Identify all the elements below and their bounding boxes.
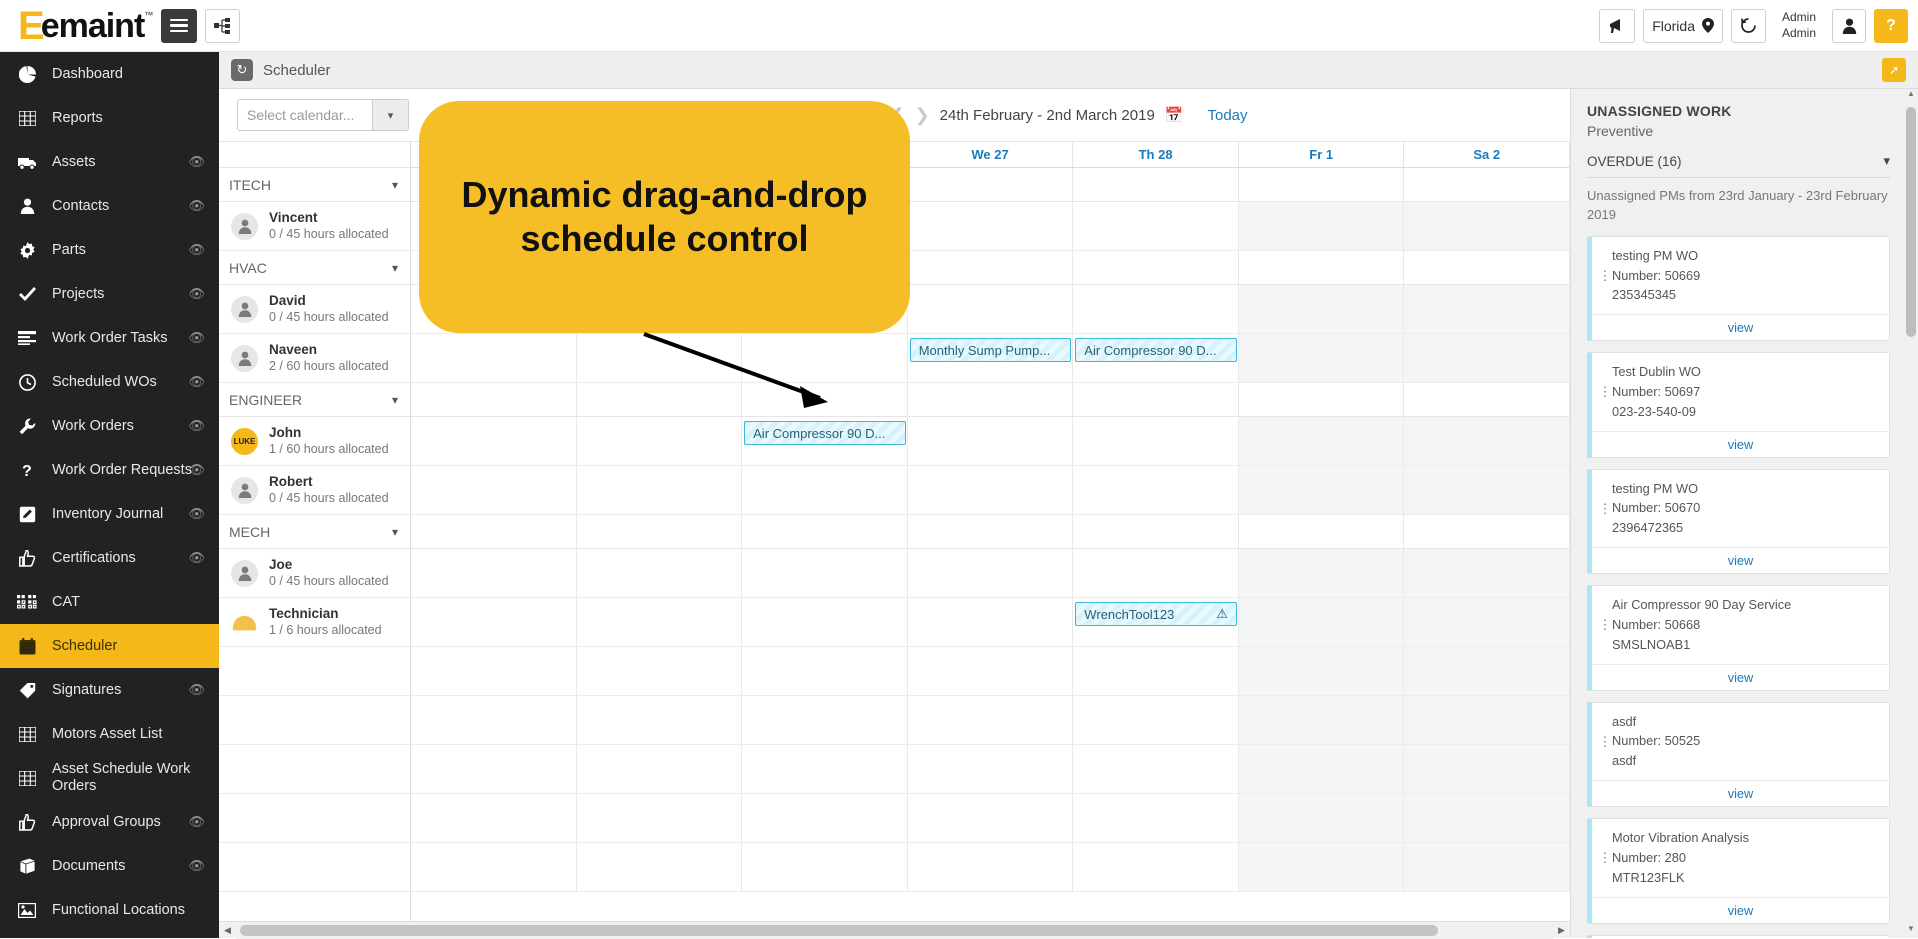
card-lines: Air Compressor 90 Day ServiceNumber: 506… [1612, 595, 1879, 654]
calendar-cell[interactable] [1404, 647, 1570, 695]
group-spacer-cell [908, 515, 1074, 548]
calendar-cell[interactable] [908, 843, 1074, 891]
unassigned-work-card[interactable]: ⋮asdfNumber: 50525asdfview [1587, 702, 1890, 807]
luke-logo-avatar: LUKE [231, 428, 258, 455]
group-spacer-cell [577, 515, 743, 548]
card-body: ⋮Motor Vibration AnalysisNumber: 280MTR1… [1592, 819, 1889, 896]
eye-icon[interactable]: 👁 [188, 682, 205, 698]
resource-row[interactable]: Joe0 / 45 hours allocated [219, 549, 410, 598]
card-title: Motor Vibration Analysis [1612, 828, 1879, 848]
sidebar-nav: DashboardReportsAssets👁Contacts👁Parts👁Pr… [0, 52, 219, 938]
brand-logo[interactable]: E emaint ™ [18, 6, 153, 46]
brand-initial: E [18, 6, 43, 46]
user-avatar [231, 296, 258, 323]
calendar-cell[interactable] [1404, 843, 1570, 891]
pie-chart-icon [14, 66, 40, 83]
calendar-event[interactable]: Air Compressor 90 D... [1075, 338, 1237, 362]
next-week-button[interactable]: ❯ [915, 105, 930, 126]
calendar-cell[interactable] [1073, 696, 1239, 744]
calendar-row-empty [411, 794, 1570, 843]
sidebar-item-scheduler[interactable]: Scheduler [0, 624, 219, 668]
sidebar-item-dashboard[interactable]: Dashboard [0, 52, 219, 96]
resource-group-hvac[interactable]: HVAC▾ [219, 251, 410, 285]
chevron-down-icon: ▾ [372, 100, 408, 130]
sidebar-item-reports[interactable]: Reports [0, 96, 219, 140]
warning-triangle-icon: ⚠ [1216, 606, 1228, 622]
card-view-link[interactable]: view [1592, 314, 1889, 340]
resource-row-empty [219, 794, 410, 843]
calendar-cell[interactable] [577, 647, 743, 695]
day-header-fr[interactable]: Fr 1 [1239, 142, 1405, 167]
resource-info: John1 / 60 hours allocated [269, 425, 389, 458]
group-spacer-row [411, 383, 1570, 417]
drag-handle-icon[interactable]: ⋮ [1598, 595, 1612, 654]
calendar-cell[interactable] [1073, 466, 1239, 514]
card-reference: SMSLNOAB1 [1612, 635, 1879, 655]
group-spacer-cell [1404, 251, 1570, 284]
event-label: Monthly Sump Pump... [919, 343, 1051, 358]
pencil-square-icon [14, 506, 40, 523]
resource-row[interactable]: Robert0 / 45 hours allocated [219, 466, 410, 515]
sitemap-button[interactable] [205, 9, 240, 43]
resource-row[interactable]: Technician1 / 6 hours allocated [219, 598, 410, 647]
scroll-up-arrow[interactable]: ▲ [1904, 89, 1918, 103]
resource-name: Technician [269, 606, 382, 623]
photo-icon [14, 903, 40, 918]
card-view-link[interactable]: view [1592, 664, 1889, 690]
calendar-cell[interactable] [1239, 843, 1405, 891]
sidebar-item-work-orders[interactable]: Work Orders👁 [0, 404, 219, 448]
card-body: ⋮Air Compressor 90 Day ServiceNumber: 50… [1592, 586, 1889, 663]
card-lines: Test Dublin WONumber: 50697023-23-540-09 [1612, 362, 1879, 421]
top-bar-right-cluster: Florida Admin Admin ? [1591, 9, 1908, 43]
card-view-link[interactable]: view [1592, 897, 1889, 923]
sidebar-item-functional-locations[interactable]: Functional Locations [0, 888, 219, 932]
eye-icon[interactable]: 👁 [188, 814, 205, 830]
calendar-cell[interactable] [1239, 794, 1405, 842]
sidebar-item-label: Work Order Requests [52, 462, 209, 479]
calendar-picker-icon[interactable]: 📅 [1165, 106, 1184, 124]
card-view-link[interactable]: view [1592, 780, 1889, 806]
calendar-cell[interactable] [742, 843, 908, 891]
sidebar-item-label: Asset Schedule Work Orders [52, 761, 209, 794]
day-header-we[interactable]: We 27 [908, 142, 1074, 167]
calendar-cell[interactable] [1404, 745, 1570, 793]
group-spacer-cell [1073, 168, 1239, 201]
sidebar-item-certifications[interactable]: Certifications👁 [0, 536, 219, 580]
group-label: ITECH [229, 177, 271, 193]
calendar-cell[interactable] [1073, 843, 1239, 891]
resource-group-itech[interactable]: ITECH▾ [219, 168, 410, 202]
card-title: testing PM WO [1612, 246, 1879, 266]
card-lines: testing PM WONumber: 50669235345345 [1612, 246, 1879, 305]
calendar-cell[interactable] [577, 843, 743, 891]
calendar-cell[interactable] [411, 794, 577, 842]
group-spacer-cell [577, 383, 743, 416]
resource-row[interactable]: Naveen2 / 60 hours allocated [219, 334, 410, 383]
announcements-button[interactable] [1599, 9, 1635, 43]
sidebar-item-label: Scheduled WOs [52, 374, 209, 391]
drag-handle-icon[interactable]: ⋮ [1598, 362, 1612, 421]
brand-trademark: ™ [144, 10, 153, 20]
group-spacer-cell [1073, 383, 1239, 416]
unassigned-work-card[interactable]: ⋮Test Dublin WONumber: 50697023-23-540-0… [1587, 352, 1890, 457]
calendar-cell[interactable] [1404, 598, 1570, 646]
resource-row[interactable]: David0 / 45 hours allocated [219, 285, 410, 334]
hamburger-menu-button[interactable] [161, 9, 197, 43]
scroll-down-arrow[interactable]: ▼ [1904, 924, 1918, 938]
calendar-select[interactable]: Select calendar... ▾ [237, 99, 409, 131]
calendar-row[interactable]: Monthly Sump Pump...Air Compressor 90 D.… [411, 334, 1570, 383]
sidebar-item-label: Functional Locations [52, 902, 209, 919]
group-spacer-cell [1073, 515, 1239, 548]
group-label: HVAC [229, 260, 267, 276]
sidebar-item-contacts[interactable]: Contacts👁 [0, 184, 219, 228]
calendar-cell[interactable] [1073, 647, 1239, 695]
drag-handle-icon[interactable]: ⋮ [1598, 246, 1612, 305]
eye-icon[interactable]: 👁 [188, 242, 205, 258]
sidebar-item-assets[interactable]: Assets👁 [0, 140, 219, 184]
resource-hours: 0 / 45 hours allocated [269, 310, 389, 326]
calendar-cell[interactable] [908, 745, 1074, 793]
eye-icon[interactable]: 👁 [188, 858, 205, 874]
card-number: Number: 50669 [1612, 266, 1879, 286]
horizontal-scroll-thumb[interactable] [240, 925, 1438, 936]
sidebar-item-label: Reports [52, 110, 209, 127]
resource-row-empty [219, 745, 410, 794]
card-body: ⋮testing PM WONumber: 506702396472365 [1592, 470, 1889, 547]
calendar-cell[interactable] [1239, 745, 1405, 793]
calendar-cell[interactable] [1404, 696, 1570, 744]
table-icon [14, 727, 40, 742]
drag-handle-icon[interactable]: ⋮ [1598, 828, 1612, 887]
drag-handle-icon[interactable]: ⋮ [1598, 479, 1612, 538]
calendar-cell[interactable] [742, 598, 908, 646]
group-spacer-cell [1239, 168, 1405, 201]
calendar-cell[interactable] [1404, 794, 1570, 842]
calendar-cell[interactable] [1239, 696, 1405, 744]
sidebar-item-asset-schedule-work-orders[interactable]: Asset Schedule Work Orders [0, 756, 219, 800]
resource-row-empty [219, 843, 410, 892]
calendar-cell[interactable] [411, 696, 577, 744]
resource-hours: 0 / 45 hours allocated [269, 227, 389, 243]
card-view-link[interactable]: view [1592, 547, 1889, 573]
calendar-select-placeholder: Select calendar... [238, 100, 372, 130]
calendar-cell[interactable] [742, 549, 908, 597]
calendar-cell[interactable] [1239, 202, 1405, 250]
calendar-cell[interactable] [742, 794, 908, 842]
chevron-down-icon[interactable]: ▾ [392, 261, 398, 275]
sidebar-item-label: Parts [52, 242, 209, 259]
table-icon [14, 771, 40, 786]
help-button[interactable]: ? [1874, 9, 1908, 43]
unassigned-work-card[interactable]: ⋮Motor Vibration AnalysisNumber: 280MTR1… [1587, 818, 1890, 923]
calendar-cell[interactable] [1239, 334, 1405, 382]
resource-hours: 1 / 60 hours allocated [269, 442, 389, 458]
calendar-cell[interactable] [1073, 202, 1239, 250]
calendar-cell[interactable] [577, 549, 743, 597]
group-spacer-cell [1404, 515, 1570, 548]
card-lines: testing PM WONumber: 506702396472365 [1612, 479, 1879, 538]
sidebar-item-label: CAT [52, 594, 209, 611]
calendar-row[interactable]: WrenchTool123⚠ [411, 598, 1570, 647]
eye-icon[interactable]: 👁 [188, 330, 205, 346]
calendar-cell[interactable] [577, 696, 743, 744]
eye-icon[interactable]: 👁 [188, 550, 205, 566]
calendar-cell[interactable] [1073, 549, 1239, 597]
sidebar-item-cat[interactable]: CAT [0, 580, 219, 624]
panel-scroll-thumb[interactable] [1906, 107, 1916, 337]
unassigned-work-card[interactable]: ⋮testing PM WONumber: 50669235345345view [1587, 236, 1890, 341]
today-button[interactable]: Today [1207, 107, 1247, 124]
sidebar-item-motors-asset-list[interactable]: Motors Asset List [0, 712, 219, 756]
group-spacer-cell [742, 383, 908, 416]
user-first-line: Admin [1782, 10, 1816, 26]
thumbs-up-icon [14, 814, 40, 831]
resource-hours: 0 / 45 hours allocated [269, 491, 389, 507]
calendar-cell[interactable] [411, 745, 577, 793]
card-number: Number: 280 [1612, 848, 1879, 868]
history-button[interactable] [1731, 9, 1766, 43]
chevron-down-icon[interactable]: ▾ [1883, 153, 1890, 169]
calendar-event[interactable]: Monthly Sump Pump... [910, 338, 1072, 362]
calendar-cell[interactable] [908, 549, 1074, 597]
calendar-cell[interactable] [1239, 647, 1405, 695]
resource-row[interactable]: Vincent0 / 45 hours allocated [219, 202, 410, 251]
chevron-down-icon[interactable]: ▾ [392, 525, 398, 539]
thumbs-up-icon [14, 550, 40, 567]
calendar-cell[interactable] [908, 466, 1074, 514]
sitemap-icon [214, 17, 231, 34]
calendar-cell[interactable] [908, 285, 1074, 333]
calendar-cell[interactable] [1404, 417, 1570, 465]
unassigned-work-card[interactable]: ⋮Air Compressor 90 Day ServiceNumber: 50… [1587, 585, 1890, 690]
sidebar-item-label: Documents [52, 858, 209, 875]
event-label: Air Compressor 90 D... [1084, 343, 1216, 358]
calendar-row[interactable] [411, 466, 1570, 515]
tag-icon [14, 682, 40, 699]
sidebar-item-work-order-requests[interactable]: ?Work Order Requests👁 [0, 448, 219, 492]
calendar-cell[interactable] [577, 334, 743, 382]
calendar-cell[interactable] [1404, 334, 1570, 382]
calendar-row-empty [411, 745, 1570, 794]
overdue-section-header[interactable]: OVERDUE (16) ▾ [1587, 153, 1890, 178]
resource-name: Robert [269, 474, 389, 491]
card-reference: 2396472365 [1612, 518, 1879, 538]
calendar-cell[interactable] [908, 696, 1074, 744]
list-icon [14, 331, 40, 345]
calendar-cell[interactable] [908, 417, 1074, 465]
calendar-cell[interactable] [411, 647, 577, 695]
eye-icon[interactable]: 👁 [188, 374, 205, 390]
eye-icon[interactable]: 👁 [188, 506, 205, 522]
date-range-label: 24th February - 2nd March 2019 [940, 107, 1155, 124]
calendar-cell[interactable] [411, 549, 577, 597]
calendar-cell[interactable] [1239, 417, 1405, 465]
resource-column: ITECH▾Vincent0 / 45 hours allocatedHVAC▾… [219, 142, 411, 921]
share-icon[interactable]: ➚ [1882, 58, 1906, 82]
eye-icon[interactable]: 👁 [188, 462, 205, 478]
calendar-cell[interactable] [742, 466, 908, 514]
calendar-cell[interactable] [577, 598, 743, 646]
megaphone-icon [1608, 18, 1626, 34]
horizontal-scroll-track[interactable] [236, 922, 1553, 939]
sidebar-item-label: Work Order Tasks [52, 330, 209, 347]
group-spacer-row [411, 515, 1570, 549]
callout-bubble: Dynamic drag-and-drop schedule control [419, 101, 910, 333]
calendar-cell[interactable] [1239, 466, 1405, 514]
group-spacer-cell [908, 251, 1074, 284]
calendar-cell[interactable] [1073, 794, 1239, 842]
top-bar: E emaint ™ Florida [0, 0, 1918, 52]
calendar-row[interactable]: Air Compressor 90 D... [411, 417, 1570, 466]
sidebar-item-inventory-journal[interactable]: Inventory Journal👁 [0, 492, 219, 536]
card-view-link[interactable]: view [1592, 431, 1889, 457]
chevron-down-icon[interactable]: ▾ [392, 393, 398, 407]
resource-group-mech[interactable]: MECH▾ [219, 515, 410, 549]
card-body: ⋮testing PM WONumber: 50669235345345 [1592, 237, 1889, 314]
calendar-cell[interactable] [577, 417, 743, 465]
user-icon [1842, 18, 1857, 34]
horizontal-scrollbar[interactable]: ◀ ▶ [219, 921, 1570, 938]
sidebar-item-approval-groups[interactable]: Approval Groups👁 [0, 800, 219, 844]
card-title: testing PM WO [1612, 479, 1879, 499]
calendar-cell[interactable] [1239, 549, 1405, 597]
page-header: ↻ Scheduler ➚ [219, 52, 1918, 89]
calendar-cell[interactable] [742, 647, 908, 695]
resource-info: David0 / 45 hours allocated [269, 293, 389, 326]
card-number: Number: 50670 [1612, 498, 1879, 518]
eye-icon[interactable]: 👁 [188, 418, 205, 434]
scroll-left-arrow[interactable]: ◀ [219, 925, 236, 936]
sidebar-item-parts[interactable]: Parts👁 [0, 228, 219, 272]
calendar-cell[interactable] [577, 794, 743, 842]
calendar-cell[interactable] [742, 696, 908, 744]
calendar-event[interactable]: Air Compressor 90 D... [744, 421, 906, 445]
calendar-cell[interactable] [411, 334, 577, 382]
calendar-row-empty [411, 843, 1570, 892]
calendar-cell[interactable] [577, 466, 743, 514]
calendar-cell[interactable] [742, 745, 908, 793]
table-icon [14, 111, 40, 126]
site-selector-button[interactable]: Florida [1643, 9, 1723, 43]
gear-icon [14, 242, 40, 259]
sidebar-item-label: Work Orders [52, 418, 209, 435]
card-body: ⋮Test Dublin WONumber: 50697023-23-540-0… [1592, 353, 1889, 430]
card-reference: MTR123FLK [1612, 868, 1879, 888]
calendar-cell[interactable] [1404, 285, 1570, 333]
calendar-cell[interactable] [1404, 466, 1570, 514]
calendar-row[interactable] [411, 549, 1570, 598]
site-label: Florida [1652, 18, 1695, 34]
group-spacer-cell [1073, 251, 1239, 284]
calendar-cell[interactable] [1073, 417, 1239, 465]
group-spacer-cell [411, 515, 577, 548]
event-label: WrenchTool123 [1084, 607, 1174, 622]
resource-row-empty [219, 696, 410, 745]
resource-row[interactable]: LUKEJohn1 / 60 hours allocated [219, 417, 410, 466]
resource-info: Robert0 / 45 hours allocated [269, 474, 389, 507]
calendar-event[interactable]: WrenchTool123⚠ [1075, 602, 1237, 626]
calendar-cell[interactable] [1073, 285, 1239, 333]
user-name-block: Admin Admin [1782, 10, 1816, 41]
panel-title: UNASSIGNED WORK [1587, 103, 1890, 119]
question-icon: ? [14, 462, 40, 479]
calendar-cell[interactable] [908, 202, 1074, 250]
card-number: Number: 50525 [1612, 731, 1879, 751]
calendar-cell[interactable] [1073, 745, 1239, 793]
calendar-cell[interactable] [742, 334, 908, 382]
calendar-cell[interactable] [908, 794, 1074, 842]
unassigned-work-card[interactable]: ⋮asdNumber: 50618asdasdview [1587, 935, 1890, 938]
resource-hours: 1 / 6 hours allocated [269, 623, 382, 639]
eye-icon[interactable]: 👁 [188, 154, 205, 170]
calendar-row-empty [411, 696, 1570, 745]
scroll-right-arrow[interactable]: ▶ [1553, 925, 1570, 936]
chevron-down-icon[interactable]: ▾ [392, 178, 398, 192]
day-header-th[interactable]: Th 28 [1073, 142, 1239, 167]
resource-info: Joe0 / 45 hours allocated [269, 557, 389, 590]
page-title: Scheduler [263, 62, 331, 79]
group-label: MECH [229, 524, 270, 540]
calendar-cell[interactable] [411, 843, 577, 891]
day-header-sa[interactable]: Sa 2 [1404, 142, 1570, 167]
resource-name: John [269, 425, 389, 442]
sidebar-item-label: Motors Asset List [52, 726, 209, 743]
event-label: Air Compressor 90 D... [753, 426, 885, 441]
calendar-cell[interactable] [411, 417, 577, 465]
drag-handle-icon[interactable]: ⋮ [1598, 712, 1612, 771]
group-spacer-cell [1239, 251, 1405, 284]
panel-subtitle: Preventive [1587, 123, 1890, 139]
resource-group-engineer[interactable]: ENGINEER▾ [219, 383, 410, 417]
group-label: ENGINEER [229, 392, 302, 408]
user-menu-button[interactable] [1832, 9, 1866, 43]
panel-scrollbar[interactable]: ▲ ▼ [1904, 89, 1918, 938]
sidebar-item-signatures[interactable]: Signatures👁 [0, 668, 219, 712]
unassigned-work-card[interactable]: ⋮testing PM WONumber: 506702396472365vie… [1587, 469, 1890, 574]
sidebar-item-label: Inventory Journal [52, 506, 209, 523]
sidebar-item-label: Projects [52, 286, 209, 303]
calendar-cell[interactable] [1239, 598, 1405, 646]
calendar-cell[interactable] [1404, 549, 1570, 597]
calendar-cell[interactable] [1404, 202, 1570, 250]
clock-icon [14, 374, 40, 391]
user-avatar [231, 560, 258, 587]
sidebar-item-documents[interactable]: Documents👁 [0, 844, 219, 888]
card-number: Number: 50697 [1612, 382, 1879, 402]
sidebar-item-scheduled-wos[interactable]: Scheduled WOs👁 [0, 360, 219, 404]
calendar-cell[interactable] [411, 466, 577, 514]
calendar-cell[interactable] [577, 745, 743, 793]
group-spacer-cell [411, 383, 577, 416]
sidebar-item-work-order-tasks[interactable]: Work Order Tasks👁 [0, 316, 219, 360]
calendar-cell[interactable] [908, 647, 1074, 695]
overdue-label: OVERDUE (16) [1587, 154, 1682, 169]
card-reference: 023-23-540-09 [1612, 402, 1879, 422]
user-second-line: Admin [1782, 26, 1816, 42]
calendar-cell[interactable] [908, 598, 1074, 646]
eye-icon[interactable]: 👁 [188, 198, 205, 214]
sidebar-item-projects[interactable]: Projects👁 [0, 272, 219, 316]
eye-icon[interactable]: 👁 [188, 286, 205, 302]
book-icon [14, 858, 40, 875]
calendar-cell[interactable] [1239, 285, 1405, 333]
check-icon [14, 287, 40, 301]
group-spacer-cell [908, 383, 1074, 416]
calendar-cell[interactable] [411, 598, 577, 646]
hardhat-avatar [231, 609, 258, 636]
